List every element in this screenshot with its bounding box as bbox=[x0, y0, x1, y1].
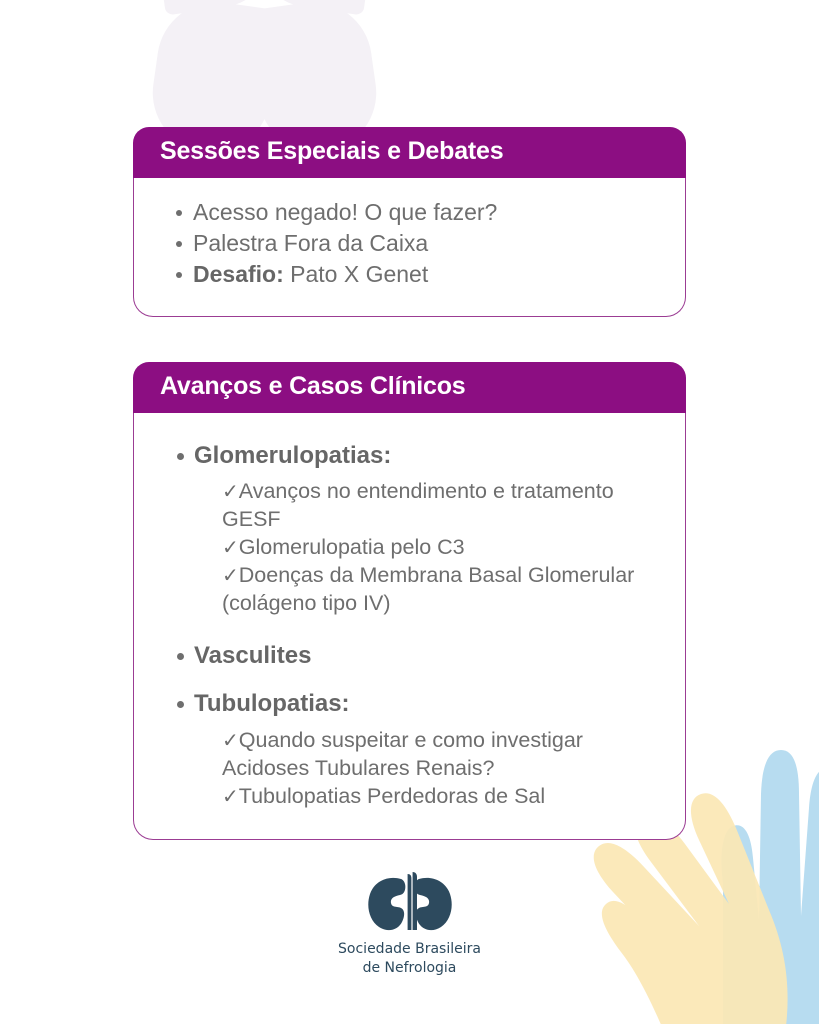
list-item: Desafio: Pato X Genet bbox=[134, 259, 685, 290]
list-item-text: Palestra Fora da Caixa bbox=[193, 230, 428, 256]
card-header-avancos: Avanços e Casos Clínicos bbox=[133, 362, 686, 413]
list-item-text: Pato X Genet bbox=[284, 261, 428, 287]
sub-list-item-text: Glomerulopatia pelo C3 bbox=[239, 535, 465, 559]
list-item: Vasculites bbox=[134, 640, 685, 673]
card-header-sessoes: Sessões Especiais e Debates bbox=[133, 127, 686, 178]
sub-list: ✓Quando suspeitar e como investigar Acid… bbox=[194, 727, 685, 811]
group-heading: Glomerulopatias: bbox=[194, 442, 391, 469]
check-icon: ✓ bbox=[222, 565, 239, 587]
list-item-text: Acesso negado! O que fazer? bbox=[193, 199, 497, 225]
check-icon: ✓ bbox=[222, 730, 239, 752]
sub-list-item-text: Avanços no entendimento e tratamento GES… bbox=[222, 479, 614, 531]
check-icon: ✓ bbox=[222, 481, 239, 503]
card-title-avancos: Avanços e Casos Clínicos bbox=[160, 373, 686, 401]
logo-text-line2: de Nefrologia bbox=[0, 959, 819, 978]
check-icon: ✓ bbox=[222, 786, 239, 808]
list-item: Glomerulopatias: ✓Avanços no entendiment… bbox=[134, 440, 685, 618]
spacer bbox=[134, 672, 685, 688]
group-heading: Vasculites bbox=[194, 642, 311, 669]
card-title-sessoes: Sessões Especiais e Debates bbox=[160, 138, 686, 166]
list-item: Tubulopatias: ✓Quando suspeitar e como i… bbox=[134, 688, 685, 810]
footer-logo: Sociedade Brasileira de Nefrologia bbox=[0, 872, 819, 977]
card-body-sessoes: Acesso negado! O que fazer? Palestra For… bbox=[133, 178, 686, 318]
list-item-bold-prefix: Desafio: bbox=[193, 261, 284, 287]
card-sessoes-especiais: Sessões Especiais e Debates Acesso negad… bbox=[133, 127, 686, 317]
sub-list-item: ✓Quando suspeitar e como investigar Acid… bbox=[222, 727, 655, 783]
group-heading: Tubulopatias: bbox=[194, 690, 350, 717]
logo-text-line1: Sociedade Brasileira bbox=[0, 940, 819, 959]
petal-top-left bbox=[145, 0, 283, 15]
logo-text: Sociedade Brasileira de Nefrologia bbox=[0, 940, 819, 977]
sessoes-list: Acesso negado! O que fazer? Palestra For… bbox=[134, 197, 685, 291]
sub-list-item: ✓Doenças da Membrana Basal Glomerular (c… bbox=[222, 562, 655, 618]
list-item: Acesso negado! O que fazer? bbox=[134, 197, 685, 228]
check-icon: ✓ bbox=[222, 537, 239, 559]
petal-top-right bbox=[246, 0, 384, 15]
sub-list: ✓Avanços no entendimento e tratamento GE… bbox=[194, 478, 685, 618]
avancos-list: Glomerulopatias: ✓Avanços no entendiment… bbox=[134, 440, 685, 811]
spacer bbox=[134, 618, 685, 640]
kidney-pair-logo-icon bbox=[365, 872, 455, 934]
list-item: Palestra Fora da Caixa bbox=[134, 228, 685, 259]
card-avancos-casos-clinicos: Avanços e Casos Clínicos Glomerulopatias… bbox=[133, 362, 686, 840]
sub-list-item: ✓Tubulopatias Perdedoras de Sal bbox=[222, 783, 655, 811]
sub-list-item-text: Quando suspeitar e como investigar Acido… bbox=[222, 728, 583, 780]
sub-list-item-text: Doenças da Membrana Basal Glomerular (co… bbox=[222, 563, 634, 615]
sub-list-item: ✓Glomerulopatia pelo C3 bbox=[222, 534, 655, 562]
sub-list-item: ✓Avanços no entendimento e tratamento GE… bbox=[222, 478, 655, 534]
card-body-avancos: Glomerulopatias: ✓Avanços no entendiment… bbox=[133, 413, 686, 840]
sub-list-item-text: Tubulopatias Perdedoras de Sal bbox=[239, 784, 545, 808]
